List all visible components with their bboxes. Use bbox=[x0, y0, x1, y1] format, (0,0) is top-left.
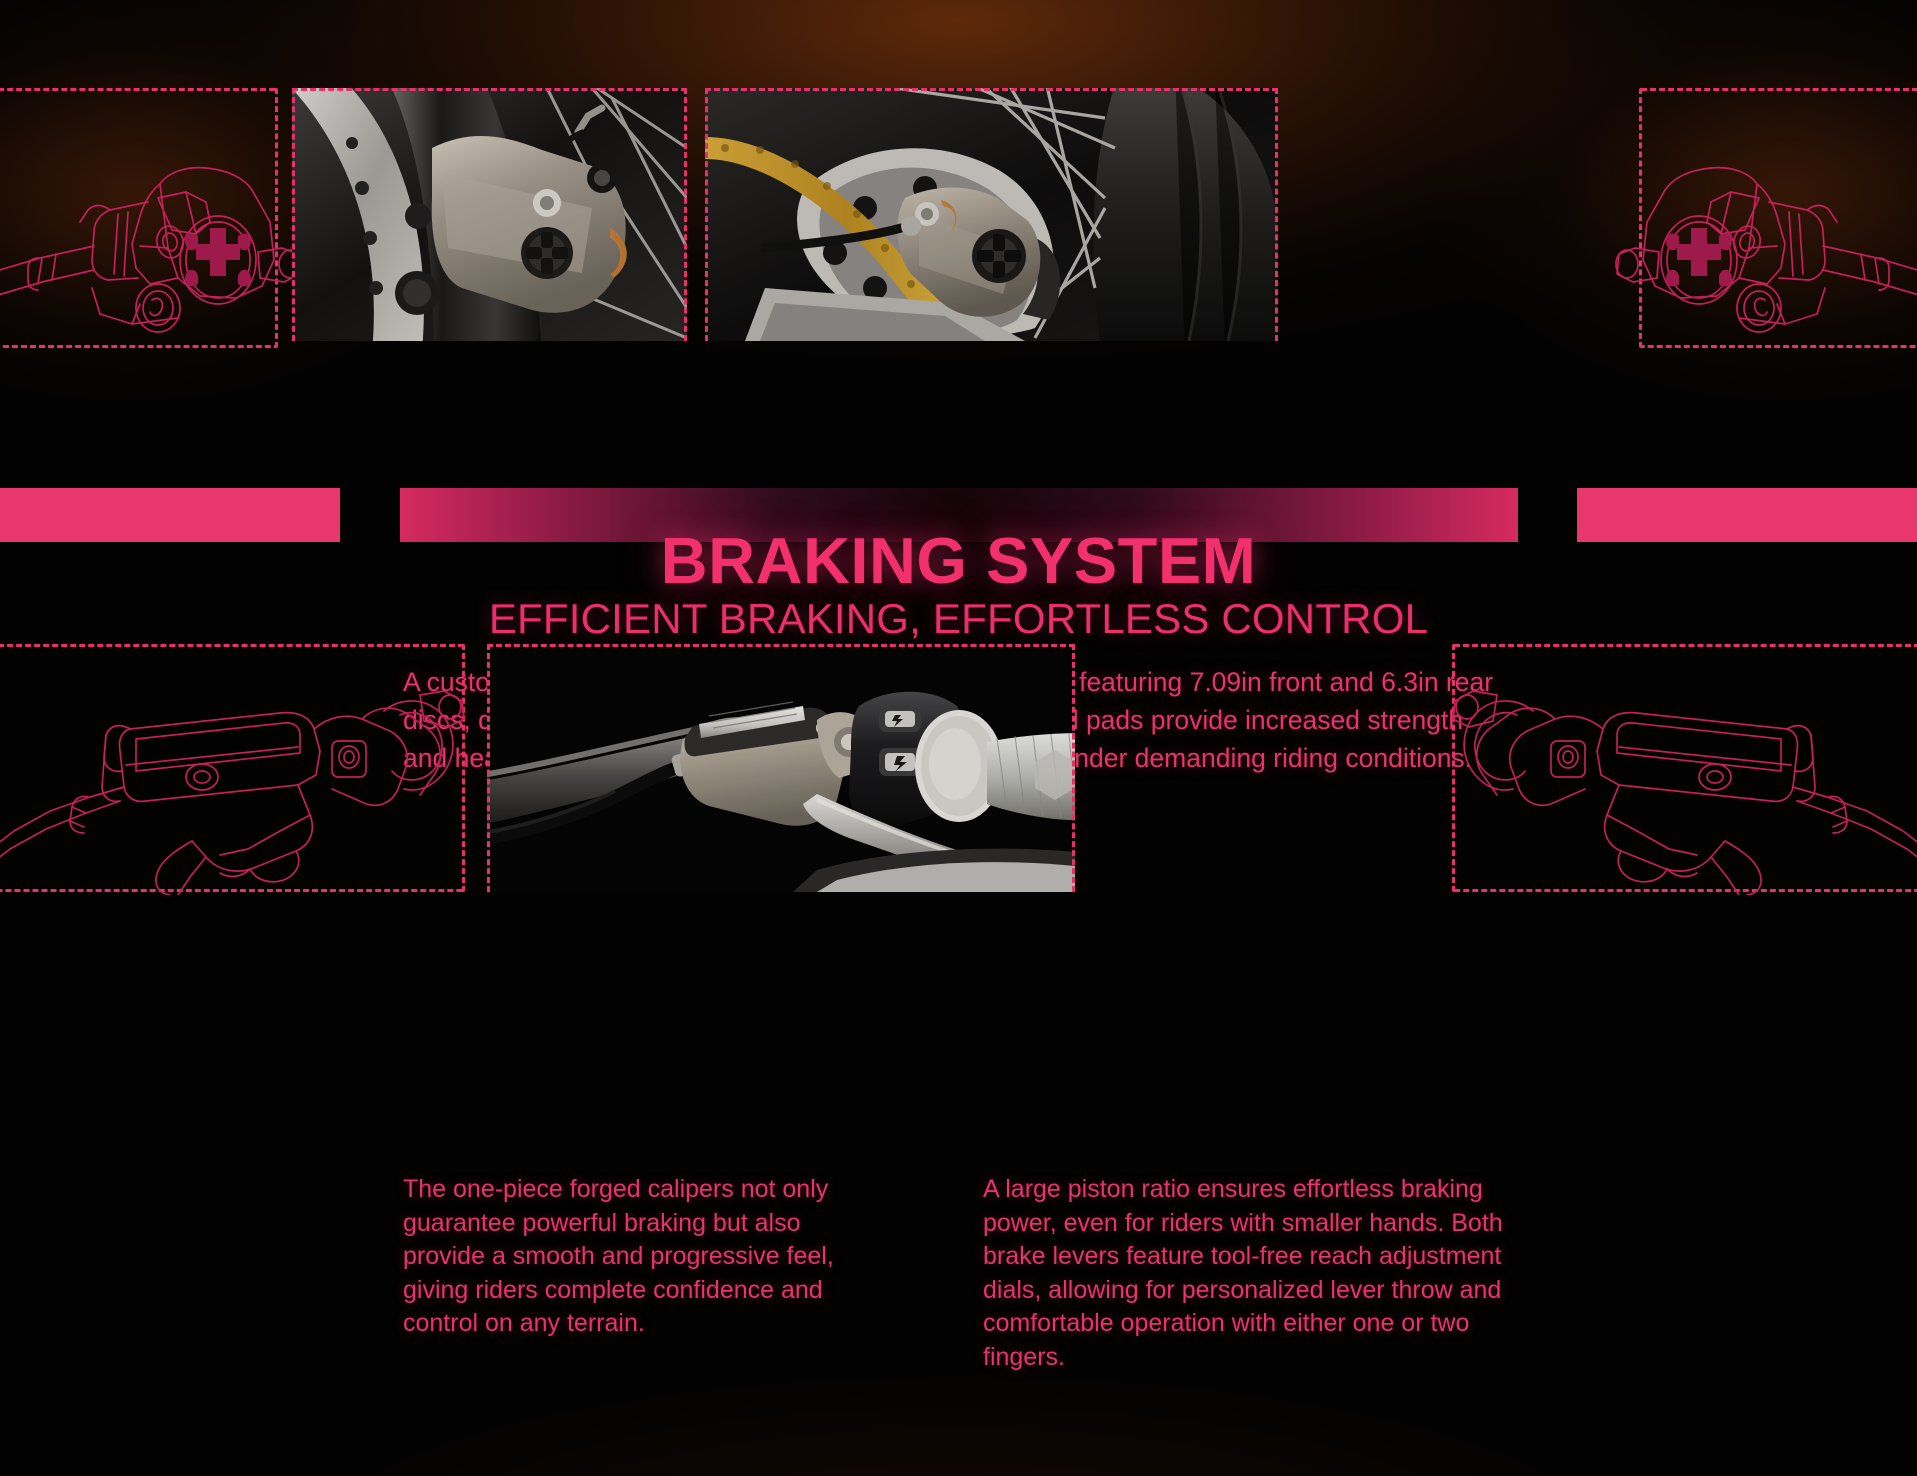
dashed-frame-bottom-right bbox=[1452, 644, 1917, 892]
photo-master-cylinder bbox=[487, 644, 1075, 892]
photo-rear-caliper bbox=[705, 88, 1278, 341]
poster-canvas: BRAKING SYSTEM EFFICIENT BRAKING, EFFORT… bbox=[0, 0, 1917, 1476]
background-glow-bottom bbox=[0, 1216, 1917, 1476]
photo-front-caliper bbox=[292, 88, 687, 341]
dashed-frame-top-left bbox=[0, 88, 278, 348]
page-title: BRAKING SYSTEM bbox=[0, 522, 1917, 600]
dashed-frame-bottom-left bbox=[0, 644, 465, 892]
dashed-frame-top-right bbox=[1639, 88, 1917, 348]
column-text-calipers: The one-piece forged calipers not only g… bbox=[403, 1173, 858, 1341]
column-text-piston-ratio: A large piston ratio ensures effortless … bbox=[983, 1173, 1538, 1374]
page-subtitle: EFFICIENT BRAKING, EFFORTLESS CONTROL bbox=[0, 595, 1917, 643]
